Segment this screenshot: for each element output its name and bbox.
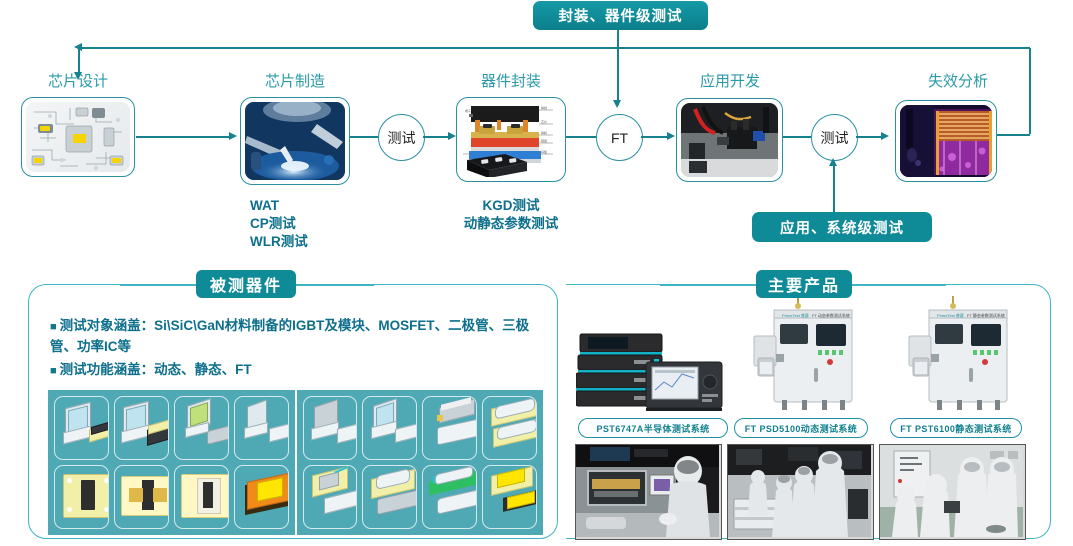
product-label-2: FT PST6100静态测试系统	[890, 418, 1022, 438]
device-package-thumbnail[interactable]	[362, 465, 417, 529]
connector-manufacture-to-test1	[350, 136, 378, 138]
connector-package-to-ft	[566, 136, 596, 138]
sub-line-kgd: KGD测试	[446, 197, 576, 215]
svg-text:PrimeTest 普赛: PrimeTest 普赛	[782, 312, 809, 318]
dut-bullet-1-text: 测试对象涵盖：Si\SiC\GaN材料制备的IGBT及模块、MOSFET、二极管…	[50, 318, 529, 354]
dut-grid-group-left	[48, 390, 297, 535]
dut-bullet-1: ■测试对象涵盖：Si\SiC\GaN材料制备的IGBT及模块、MOSFET、二极…	[50, 316, 530, 358]
bullet-marker-icon-2: ■	[50, 365, 57, 377]
connector-arrow-test1-to-package	[448, 132, 456, 140]
connector-test2-to-failure	[856, 136, 884, 138]
sub-line-dynamic-static: 动静态参数测试	[446, 215, 576, 233]
device-package-thumbnail[interactable]	[482, 465, 537, 529]
connector-circle-test-2[interactable]: 测试	[811, 114, 858, 161]
package-cross-section-diagram: 焊线芯片 焊料铜层 基板 端子	[461, 102, 561, 177]
device-package-thumbnail[interactable]	[422, 465, 477, 529]
sub-line-wat: WAT	[250, 197, 430, 215]
connector-arrow-test2-to-failure	[881, 132, 889, 140]
device-package-thumbnail[interactable]	[54, 396, 109, 460]
stage-title-app-development: 应用开发	[660, 70, 800, 91]
app-banner-riser-arrow	[829, 158, 837, 166]
dut-title-rule-left	[120, 284, 200, 286]
device-package-thumbnail[interactable]	[234, 396, 289, 460]
feedback-line-top-horizontal	[78, 47, 1030, 49]
stage-box-app-development[interactable]	[676, 98, 783, 182]
device-package-thumbnail[interactable]	[234, 465, 289, 529]
feedback-arrow-left	[74, 43, 82, 51]
banner-package-device-level-test: 封装、器件级测试	[533, 1, 708, 30]
products-panel-title: 主要产品	[756, 270, 852, 298]
device-package-thumbnail[interactable]	[114, 396, 169, 460]
device-package-thumbnail[interactable]	[54, 465, 109, 529]
stage-box-device-package[interactable]: 焊线芯片 焊料铜层 基板 端子	[456, 97, 566, 182]
banner-application-system-level-test: 应用、系统级测试	[752, 212, 932, 242]
feedback-line-right-vertical	[1029, 48, 1031, 134]
stage-title-chip-manufacture: 芯片制造	[225, 70, 365, 91]
connector-circle-ft[interactable]: FT	[596, 114, 643, 161]
svg-text:FT 静态参数测试系统: FT 静态参数测试系统	[967, 312, 1005, 318]
device-package-thumbnail[interactable]	[362, 396, 417, 460]
product-image-bench-instrument-stack[interactable]	[576, 330, 726, 412]
connector-test1-to-package	[423, 136, 451, 138]
connector-circle-test-1[interactable]: 测试	[378, 114, 425, 161]
device-package-thumbnail[interactable]	[482, 396, 537, 460]
products-title-rule-right	[850, 284, 946, 286]
connector-design-to-manufacture	[136, 136, 232, 138]
package-banner-drop-arrow	[613, 100, 621, 108]
sub-line-wlr: WLR测试	[250, 233, 430, 251]
device-package-thumbnail[interactable]	[422, 396, 477, 460]
product-label-1: FT PSD5100动态测试系统	[734, 418, 868, 438]
products-title-rule-left	[660, 284, 756, 286]
chip-design-illustration	[26, 102, 130, 172]
product-image-ft-test-cabinet-dynamic[interactable]: PrimeTest 普赛 FT 动态参数测试系统	[740, 296, 860, 414]
failure-analysis-microscope-photo	[900, 105, 992, 177]
device-package-thumbnail[interactable]	[303, 396, 358, 460]
device-package-thumbnail[interactable]	[114, 465, 169, 529]
stage-sub-device-package: KGD测试 动静态参数测试	[446, 197, 576, 233]
svg-text:焊线: 焊线	[541, 105, 547, 110]
svg-text:FT 动态参数测试系统: FT 动态参数测试系统	[812, 312, 850, 318]
product-image-ft-test-cabinet-static[interactable]: PrimeTest 普赛 FT 静态参数测试系统	[895, 296, 1015, 414]
dut-panel-title: 被测器件	[196, 270, 296, 298]
connector-appdev-to-test2	[783, 136, 811, 138]
svg-text:PrimeTest 普赛: PrimeTest 普赛	[937, 312, 964, 318]
cleanroom-operator-photo[interactable]	[575, 444, 722, 540]
svg-text:铜层: 铜层	[541, 138, 547, 143]
application-board-photo	[681, 103, 778, 177]
stage-box-chip-manufacture[interactable]	[240, 97, 350, 185]
device-package-thumbnail[interactable]	[303, 465, 358, 529]
wafer-probe-photo	[245, 102, 345, 180]
product-label-0: PST6747A半导体测试系统	[578, 418, 728, 438]
stage-box-chip-design[interactable]	[21, 97, 135, 177]
stage-sub-chip-manufacture: WAT CP测试 WLR测试	[205, 197, 430, 250]
dut-title-rule-right	[294, 284, 374, 286]
svg-text:芯片: 芯片	[541, 119, 547, 124]
stage-title-failure-analysis: 失效分析	[888, 70, 1028, 91]
stage-title-device-package: 器件封装	[441, 70, 581, 91]
sub-line-cp: CP测试	[250, 215, 430, 233]
connector-arrow-ft-to-appdev	[667, 132, 675, 140]
failure-to-feedback-line	[997, 134, 1030, 136]
stage-box-failure-analysis[interactable]	[895, 100, 997, 182]
cleanroom-team-photo[interactable]	[879, 444, 1026, 540]
cleanroom-production-line-photo[interactable]	[727, 444, 874, 540]
app-banner-riser-line	[833, 164, 835, 212]
package-banner-drop-line	[617, 30, 619, 105]
dut-bullet-list: ■测试对象涵盖：Si\SiC\GaN材料制备的IGBT及模块、MOSFET、二极…	[50, 316, 530, 381]
svg-text:基板: 基板	[541, 149, 547, 154]
svg-text:端子: 端子	[465, 108, 471, 113]
dut-device-grid	[48, 390, 543, 535]
connector-arrow-design-to-manufacture	[229, 132, 237, 140]
bullet-marker-icon: ■	[50, 321, 57, 333]
dut-grid-group-right	[297, 390, 544, 535]
svg-text:焊料: 焊料	[541, 130, 547, 135]
stage-title-chip-design: 芯片设计	[8, 70, 148, 91]
device-package-thumbnail[interactable]	[174, 396, 229, 460]
device-package-thumbnail[interactable]	[174, 465, 229, 529]
dut-bullet-2: ■测试功能涵盖：动态、静态、FT	[50, 360, 530, 381]
dut-bullet-2-text: 测试功能涵盖：动态、静态、FT	[60, 362, 252, 377]
